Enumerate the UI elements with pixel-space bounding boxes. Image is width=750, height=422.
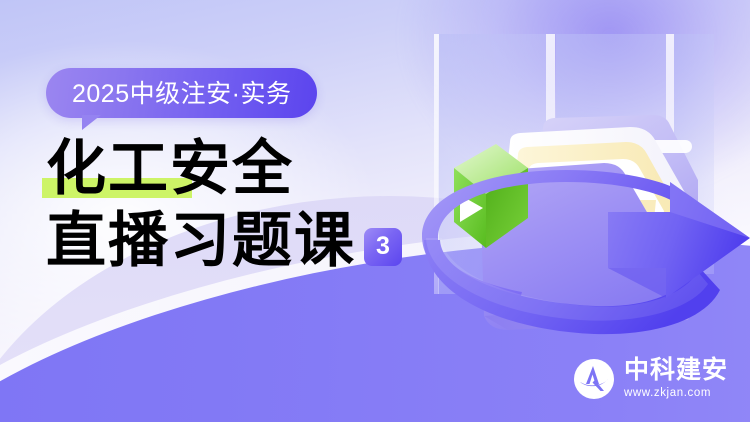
logo-company-name: 中科建安 [624,358,728,383]
course-banner: 2025中级注安·实务 化工安全 直播习题课 3 中科建安 [0,0,750,422]
brand-logo: 中科建安 www.zkjan.com [573,358,728,400]
course-badge: 2025中级注安·实务 [46,68,317,118]
title-line-1: 化工安全 [46,138,470,200]
zkjan-logo-icon [573,358,615,400]
title-line-2: 直播习题课 3 [46,210,470,272]
logo-text-block: 中科建安 www.zkjan.com [624,358,728,400]
episode-number-badge: 3 [364,228,402,266]
badge-tail-pointer [82,115,101,130]
banner-text-column: 2025中级注安·实务 化工安全 直播习题课 3 [0,0,470,422]
banner-headline: 化工安全 直播习题课 3 [46,138,470,273]
title-line-2-text: 直播习题课 [46,210,356,272]
course-badge-wrapper: 2025中级注安·实务 [46,68,317,118]
logo-website-url: www.zkjan.com [624,388,728,400]
title-line-1-text: 化工安全 [46,138,294,200]
